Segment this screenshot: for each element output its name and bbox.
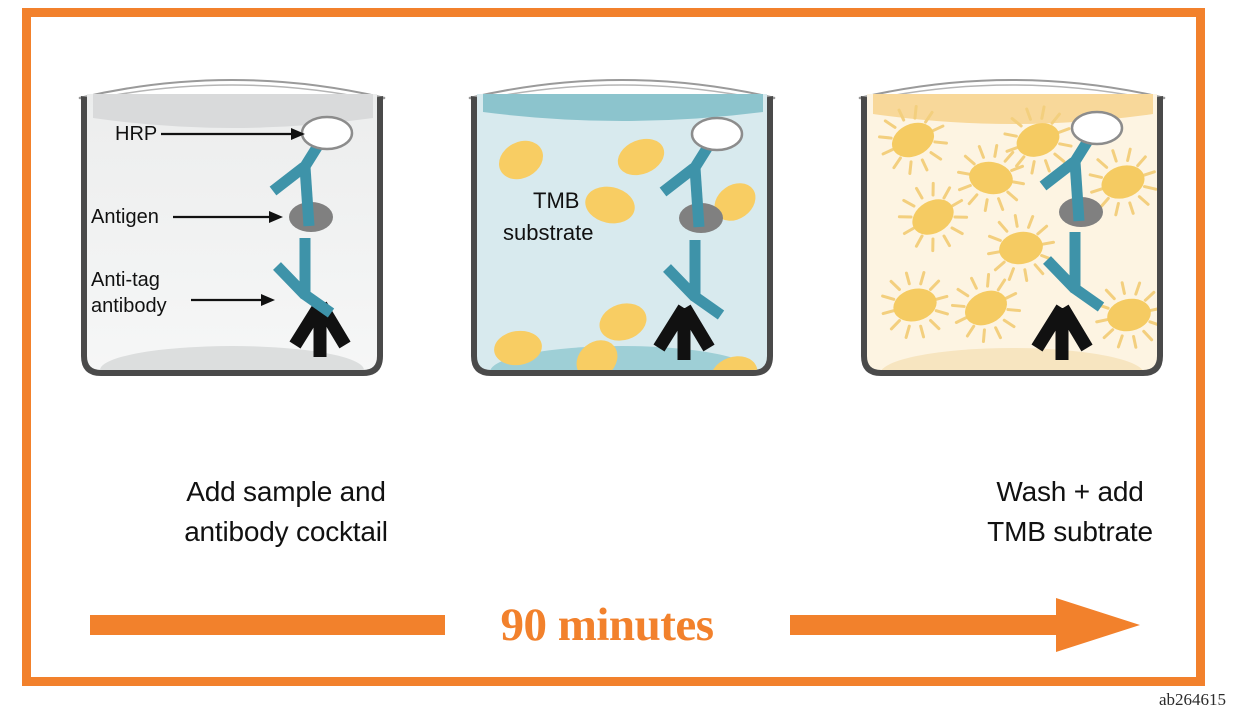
well-tmb: TMB substrate bbox=[463, 60, 781, 380]
hrp-marker bbox=[1072, 112, 1122, 144]
step-2-caption: Wash + add TMB subtrate bbox=[900, 472, 1234, 552]
hrp-marker bbox=[302, 117, 352, 149]
timeline-arrowhead bbox=[1056, 598, 1140, 652]
well-stop bbox=[853, 60, 1171, 380]
label-anti-tag-antibody-line1: Anti-tag bbox=[91, 269, 160, 291]
hrp-marker bbox=[692, 118, 742, 150]
step-1-column: HRP Antigen Anti-tag antibody bbox=[62, 60, 402, 380]
step-2-caption-line-2: TMB subtrate bbox=[900, 512, 1234, 552]
timeline-bar-right bbox=[790, 615, 1062, 635]
step-2-caption-line-1: Wash + add bbox=[900, 472, 1234, 512]
figure-canvas: HRP Antigen Anti-tag antibody bbox=[0, 0, 1234, 720]
liquid-surface-band bbox=[483, 90, 763, 121]
label-tmb-line1: TMB bbox=[533, 188, 579, 213]
step-1-caption-line-2: antibody cocktail bbox=[116, 512, 456, 552]
label-tmb-line2: substrate bbox=[503, 220, 594, 245]
step-2-column: TMB substrate Wash + add TMB subtrate bbox=[452, 60, 792, 380]
label-antigen: Antigen bbox=[91, 206, 159, 228]
timeline-bar-left bbox=[90, 615, 445, 635]
label-anti-tag-antibody-line2: antibody bbox=[91, 295, 167, 317]
timeline-arrow bbox=[90, 592, 1145, 658]
label-hrp: HRP bbox=[115, 123, 157, 145]
product-code-watermark: ab264615 bbox=[1159, 690, 1226, 710]
step-1-caption: Add sample and antibody cocktail bbox=[116, 472, 456, 552]
step-3-column: Add stop solution + Read bbox=[842, 60, 1182, 380]
well-sample: HRP Antigen Anti-tag antibody bbox=[73, 60, 391, 380]
step-1-caption-line-1: Add sample and bbox=[116, 472, 456, 512]
